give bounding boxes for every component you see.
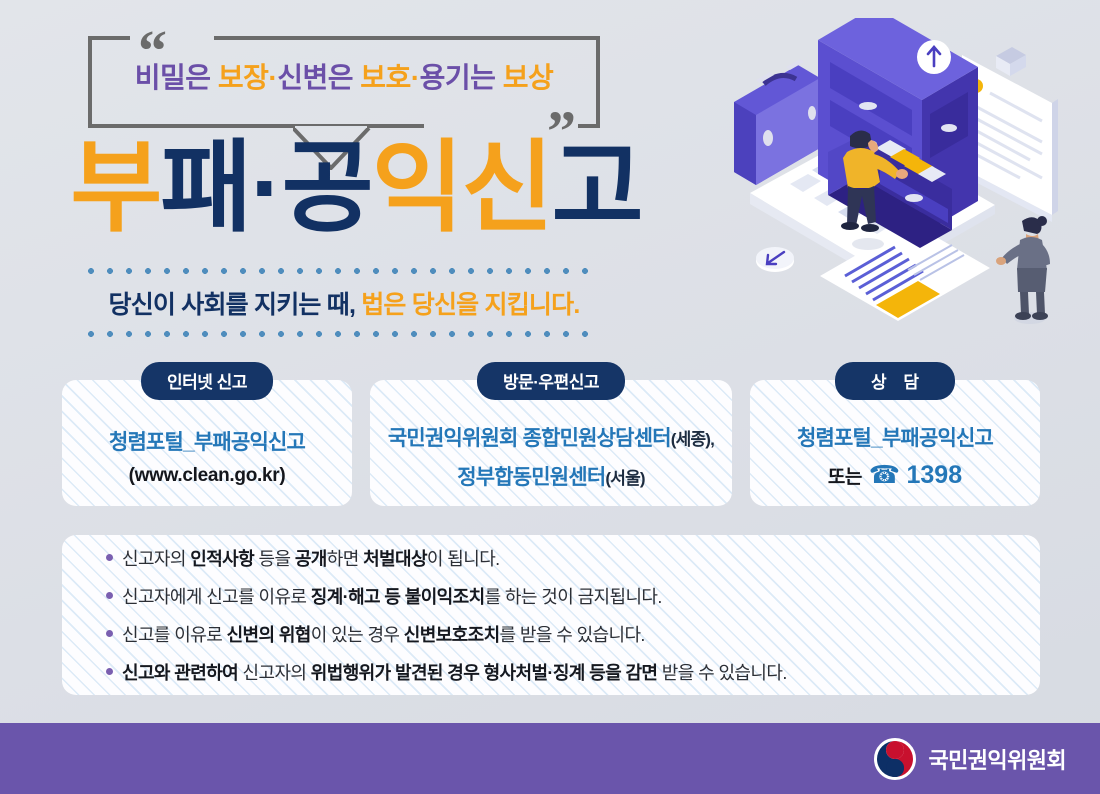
notice-text-1: 신고자의 인적사항 등을 공개하면 처벌대상이 됩니다. xyxy=(122,545,500,571)
dotted-rule-bottom xyxy=(88,331,600,337)
title-part-4: 신 xyxy=(462,132,552,244)
joint-center-name: 정부합동민원센터 xyxy=(457,466,605,489)
tagline-seg-6: 보상 xyxy=(503,62,554,93)
card-consultation[interactable]: 상 담 청렴포털_부패공익신고 또는 ☎ 1398 xyxy=(750,380,1040,506)
notice-text-3: 신고를 이유로 신변의 위협이 있는 경우 신변보호조치를 받을 수 있습니다. xyxy=(122,621,645,647)
person-woman xyxy=(996,216,1050,324)
tagline-seg-4: 보호· xyxy=(360,62,419,93)
consult-portal-name: 청렴포털_부패공익신고 xyxy=(797,422,993,452)
consult-or-label: 또는 xyxy=(828,462,862,489)
card-visit-mail-report[interactable]: 방문·우편신고 국민권익위원회 종합민원상담센터(세종), 정부합동민원센터(서… xyxy=(370,380,732,506)
card-body-consultation: 청렴포털_부패공익신고 또는 ☎ 1398 xyxy=(750,406,1040,506)
subtitle-orange: 법은 당신을 지킵니다. xyxy=(361,291,579,319)
visit-center-line1: 국민권익위원회 종합민원상담센터(세종), xyxy=(388,422,714,452)
footer-logo-group: 국민권익위원회 xyxy=(874,738,1066,780)
down-left-arrow-badge xyxy=(756,247,794,272)
notice-item: 신고와 관련하여 신고자의 위법행위가 발견된 경우 형사처벌·징계 등을 감면… xyxy=(106,659,1040,685)
notice-text-2: 신고자에게 신고를 이유로 징계·해고 등 불이익조치를 하는 것이 금지됩니다… xyxy=(122,583,662,609)
title-part-5: 고 xyxy=(552,132,642,244)
visit-center-location: (세종), xyxy=(671,430,714,449)
notice-item: 신고자의 인적사항 등을 공개하면 처벌대상이 됩니다. xyxy=(106,545,1040,571)
korea-government-taegeuk-logo xyxy=(874,738,916,780)
card-badge-consultation: 상 담 xyxy=(835,362,955,400)
subtitle-navy: 당신이 사회를 지키는 때, xyxy=(109,291,362,319)
notice-text-4: 신고와 관련하여 신고자의 위법행위가 발견된 경우 형사처벌·징계 등을 감면… xyxy=(122,659,787,685)
tagline-speech-bubble: “ ” 비밀은 보장·신변은 보호·용기는 보상 xyxy=(88,36,600,128)
up-arrow-badge xyxy=(917,40,951,74)
bullet-dot-icon xyxy=(106,592,113,599)
telephone-icon: ☎ xyxy=(869,463,900,488)
title-part-3: 익 xyxy=(372,132,462,244)
bullet-dot-icon xyxy=(106,630,113,637)
tagline-seg-3: 신변은 xyxy=(277,62,360,93)
card-body-visit-mail: 국민권익위원회 종합민원상담센터(세종), 정부합동민원센터(서울) xyxy=(370,406,732,506)
footer-agency-name: 국민권익위원회 xyxy=(929,743,1066,775)
subtitle-text: 당신이 사회를 지키는 때, 법은 당신을 지킵니다. xyxy=(88,274,600,331)
bullet-dot-icon xyxy=(106,554,113,561)
internet-portal-url[interactable]: (www.clean.go.kr) xyxy=(129,465,286,487)
notice-panel: 신고자의 인적사항 등을 공개하면 처벌대상이 됩니다. 신고자에게 신고를 이… xyxy=(62,535,1040,695)
notice-list: 신고자의 인적사항 등을 공개하면 처벌대상이 됩니다. 신고자에게 신고를 이… xyxy=(62,535,1040,695)
tagline-text: 비밀은 보장·신변은 보호·용기는 보상 xyxy=(88,56,600,96)
visit-center-line2: 정부합동민원센터(서울) xyxy=(457,461,645,491)
internet-portal-name: 청렴포털_부패공익신고 xyxy=(109,426,305,456)
consult-phone-row: 또는 ☎ 1398 xyxy=(828,461,962,490)
isometric-illustration xyxy=(690,18,1090,348)
tagline-seg-1: 비밀은 xyxy=(135,62,218,93)
poster-canvas: “ ” 비밀은 보장·신변은 보호·용기는 보상 부패·공익신고 당신이 사회를… xyxy=(0,0,1100,794)
card-badge-visit-mail: 방문·우편신고 xyxy=(477,362,625,400)
card-body-internet: 청렴포털_부패공익신고 (www.clean.go.kr) xyxy=(62,406,352,506)
consult-phone-number[interactable]: 1398 xyxy=(906,461,962,490)
page-title: 부패·공익신고 xyxy=(36,136,676,240)
title-part-1: 부 xyxy=(70,132,160,244)
report-channel-cards: 인터넷 신고 청렴포털_부패공익신고 (www.clean.go.kr) 방문·… xyxy=(62,380,1040,506)
notice-item: 신고를 이유로 신변의 위협이 있는 경우 신변보호조치를 받을 수 있습니다. xyxy=(106,621,1040,647)
tagline-seg-5: 용기는 xyxy=(420,62,503,93)
card-internet-report[interactable]: 인터넷 신고 청렴포털_부패공익신고 (www.clean.go.kr) xyxy=(62,380,352,506)
title-part-2: 패·공 xyxy=(160,132,371,244)
visit-center-name: 국민권익위원회 종합민원상담센터 xyxy=(388,427,671,450)
joint-center-location: (서울) xyxy=(605,469,644,488)
subtitle-block: 당신이 사회를 지키는 때, 법은 당신을 지킵니다. xyxy=(88,268,600,330)
footer-bar: 국민권익위원회 xyxy=(0,723,1100,794)
tagline-seg-2: 보장· xyxy=(218,62,277,93)
notice-item: 신고자에게 신고를 이유로 징계·해고 등 불이익조치를 하는 것이 금지됩니다… xyxy=(106,583,1040,609)
bullet-dot-icon xyxy=(106,668,113,675)
card-badge-internet: 인터넷 신고 xyxy=(141,362,273,400)
